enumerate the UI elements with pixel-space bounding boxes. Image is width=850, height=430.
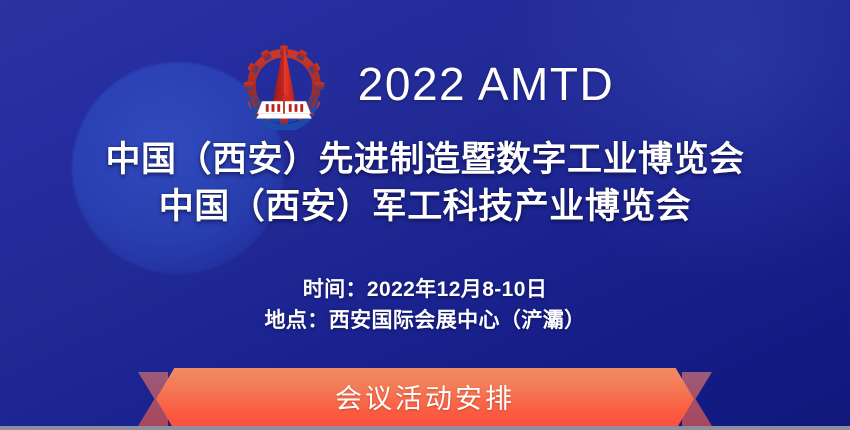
header-row: 2022 AMTD — [0, 38, 850, 130]
headline-secondary: 中国（西安）军工科技产业博览会 — [0, 183, 850, 230]
ribbon-body: 会议活动安排 — [156, 368, 694, 430]
event-info-block: 时间：2022年12月8-10日 地点：西安国际会展中心（浐灞） — [0, 274, 850, 336]
event-banner: 2022 AMTD 中国（西安）先进制造暨数字工业博览会 中国（西安）军工科技产… — [0, 0, 850, 430]
headline-primary: 中国（西安）先进制造暨数字工业博览会 — [0, 136, 850, 183]
amtd-gear-arrow-logo — [236, 38, 332, 130]
event-title-amtd: 2022 AMTD — [358, 61, 614, 107]
agenda-ribbon-label: 会议活动安排 — [335, 386, 515, 413]
headline-block: 中国（西安）先进制造暨数字工业博览会 中国（西安）军工科技产业博览会 — [0, 136, 850, 230]
bottom-strip — [0, 426, 850, 430]
agenda-ribbon-banner: 会议活动安排 — [138, 368, 712, 430]
event-date-line: 时间：2022年12月8-10日 — [0, 274, 850, 305]
event-venue-line: 地点：西安国际会展中心（浐灞） — [0, 305, 850, 336]
